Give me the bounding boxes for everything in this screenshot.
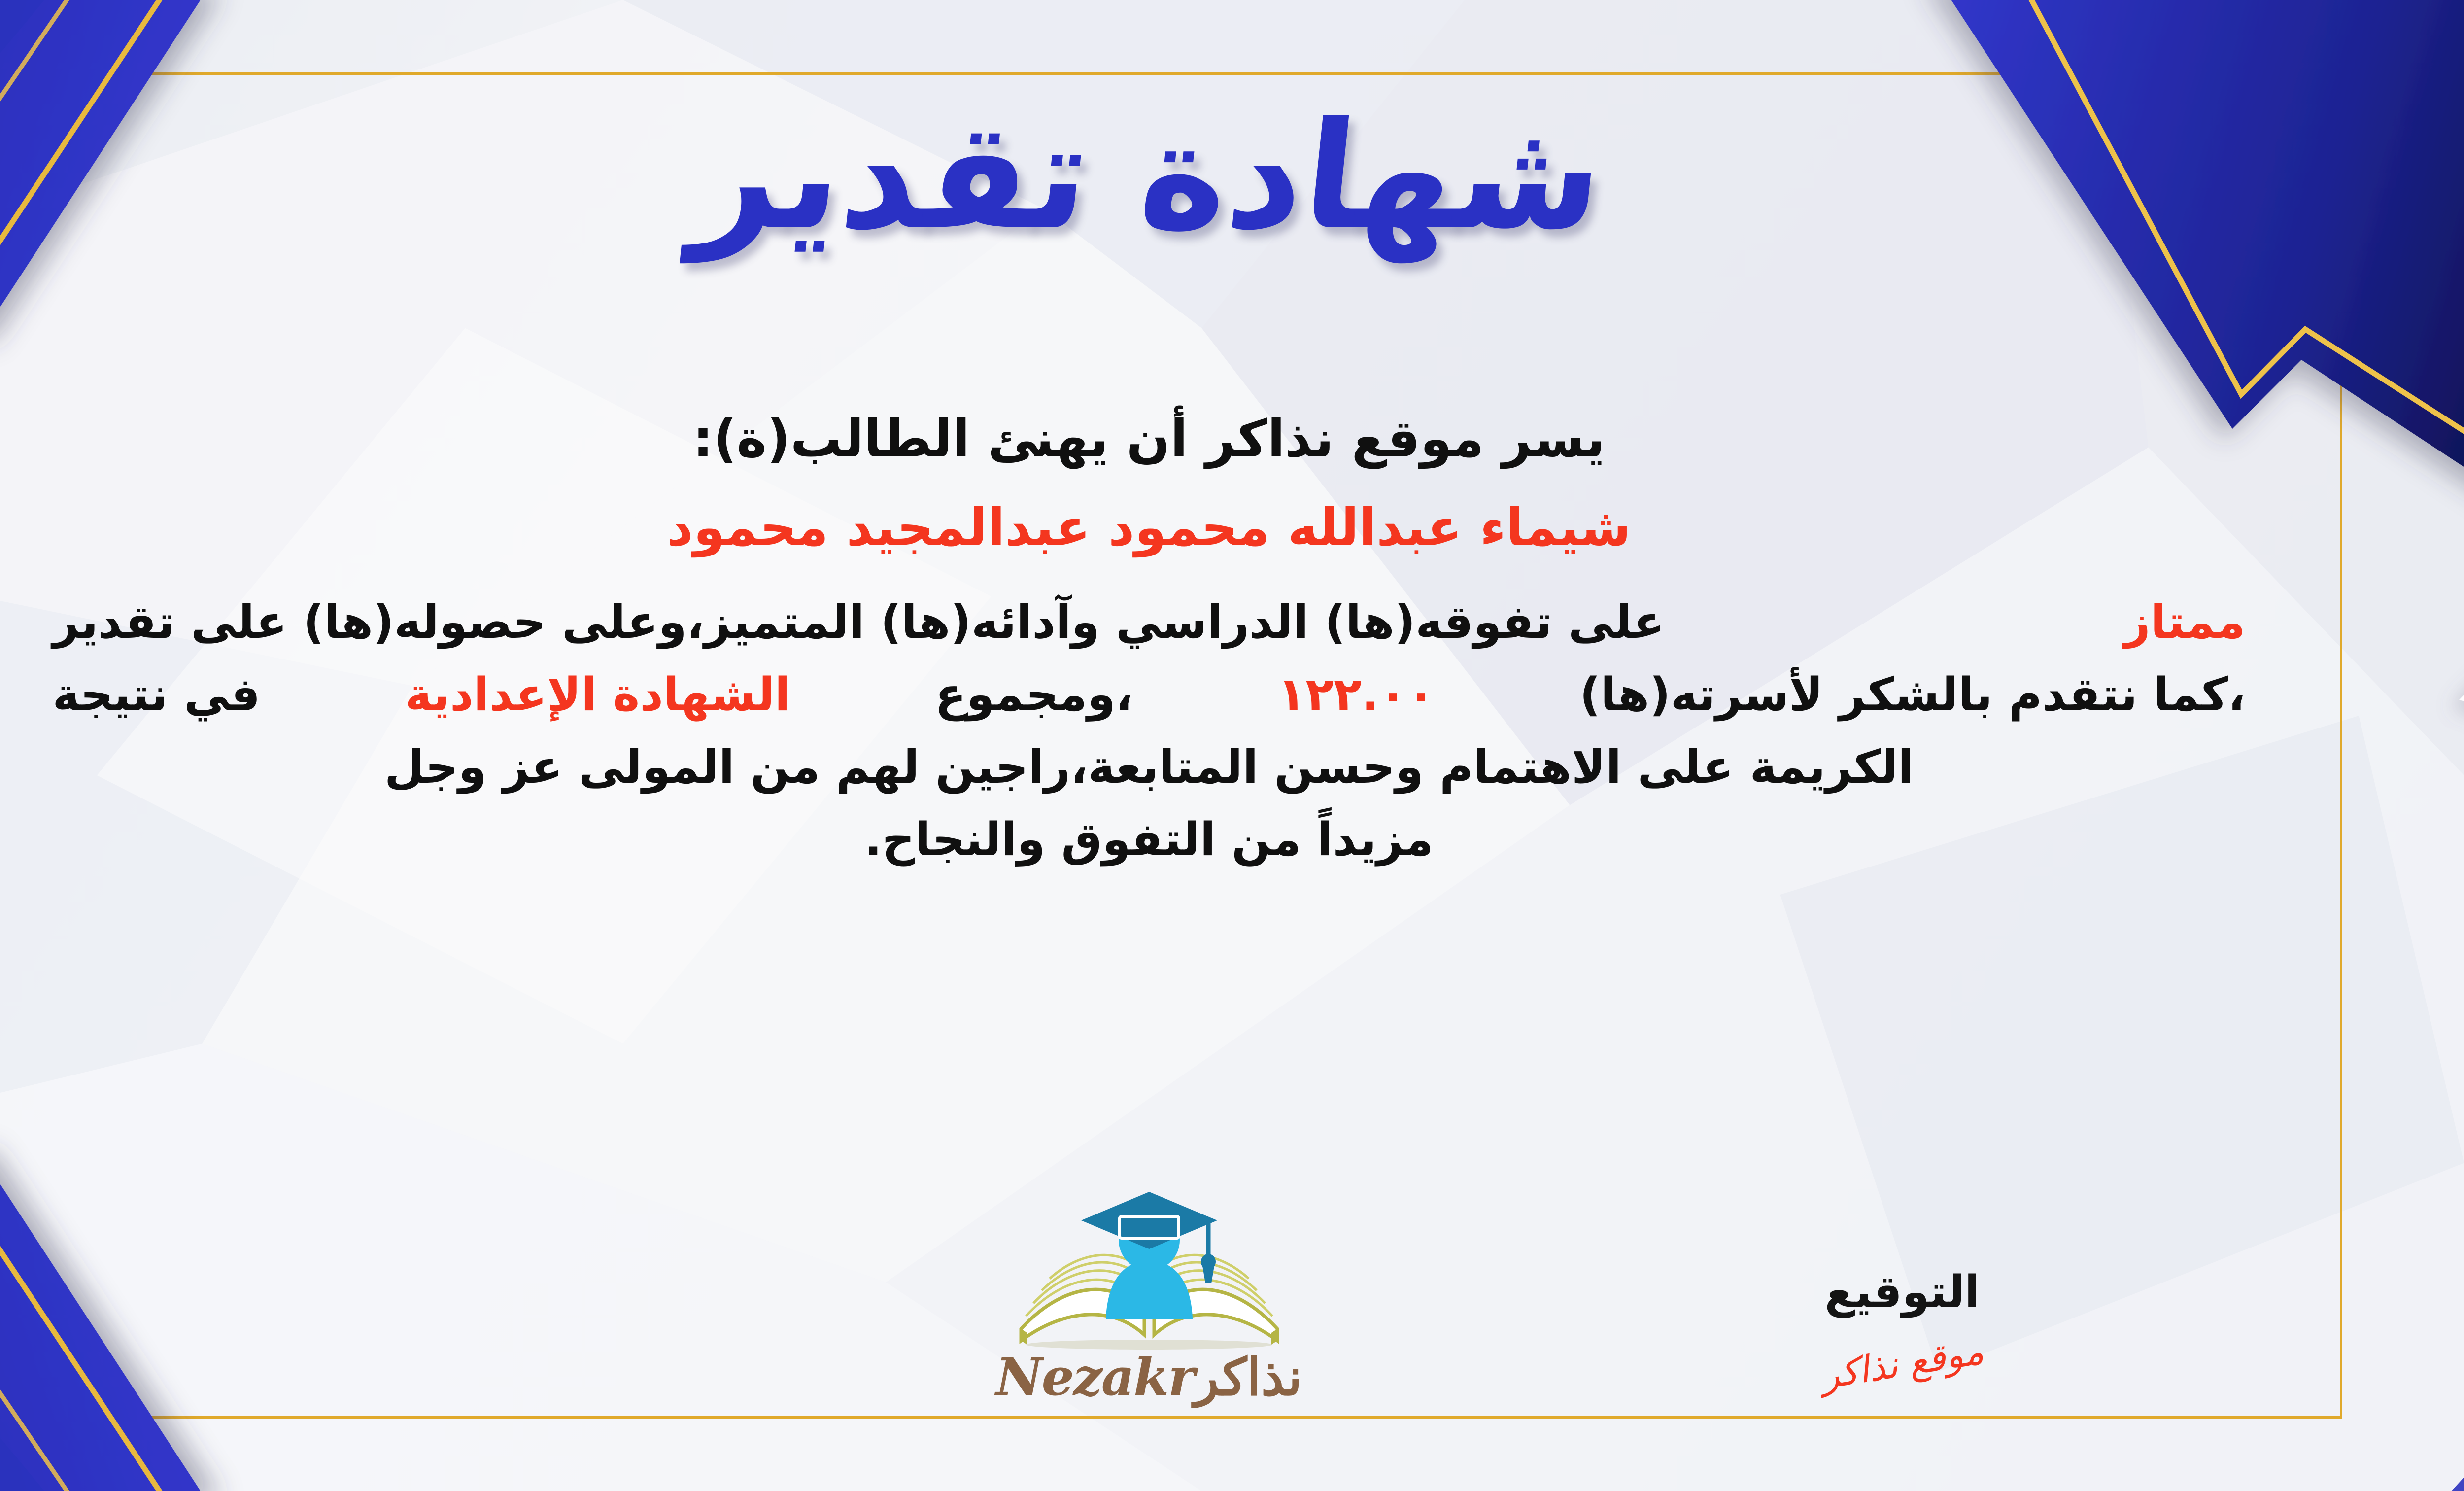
body-line-1: ممتاز على تفوقه(ها) الدراسي وآدائه(ها) ا…	[53, 586, 2246, 659]
frame-border-bottom	[0, 1416, 2342, 1419]
brand-logo: نذاكرNezakr	[927, 1187, 1371, 1407]
exam-name-value: الشهادة الإعدادية	[405, 659, 790, 731]
page-title: شهادة تقدير	[686, 94, 1612, 259]
greeting-line: يسر موقع نذاكر أن يهنئ الطالب(ة):	[0, 404, 2316, 473]
signature-mark-wrap: موقع نذاكر	[1764, 1343, 2040, 1385]
signature-label: التوقيع	[1764, 1266, 2040, 1318]
body-paragraph: ممتاز على تفوقه(ها) الدراسي وآدائه(ها) ا…	[53, 586, 2246, 876]
certificate-title-area: شهادة تقدير	[0, 94, 2464, 259]
body-line-2-suffix: ،كما نتقدم بالشكر لأسرته(ها)	[1579, 659, 2245, 731]
frame-border-top	[0, 72, 2342, 75]
certificate-page: شهادة تقدير يسر موقع نذاكر أن يهنئ الطال…	[0, 0, 2464, 1491]
graduate-book-logo-icon	[996, 1187, 1302, 1350]
signature-block: التوقيع موقع نذاكر	[1764, 1266, 2040, 1385]
logo-latin-text: Nezakr	[996, 1347, 1195, 1407]
certificate-body: يسر موقع نذاكر أن يهنئ الطالب(ة): شيماء …	[0, 404, 2316, 876]
body-line-2-mid: ،ومجموع	[935, 659, 1133, 731]
logo-wordmark: نذاكرNezakr	[927, 1347, 1371, 1407]
student-name: شيماء عبدالله محمود عبدالمجيد محمود	[0, 493, 2316, 562]
logo-arabic-text: نذاكر	[1194, 1347, 1302, 1407]
grade-value: ممتاز	[2124, 586, 2245, 659]
body-line-4: مزيداً من التفوق والنجاح.	[53, 803, 2246, 876]
body-line-1-text: على تفوقه(ها) الدراسي وآدائه(ها) المتميز…	[53, 586, 1665, 659]
body-line-3: الكريمة على الاهتمام وحسن المتابعة،راجين…	[53, 731, 2246, 803]
body-line-2-prefix: في نتيجة	[53, 659, 261, 731]
frame-border-right	[2340, 72, 2342, 1419]
body-line-2: ،كما نتقدم بالشكر لأسرته(ها) ١٢٢.٠٠ ،ومج…	[53, 659, 2246, 731]
total-score-value: ١٢٢.٠٠	[1278, 659, 1435, 731]
